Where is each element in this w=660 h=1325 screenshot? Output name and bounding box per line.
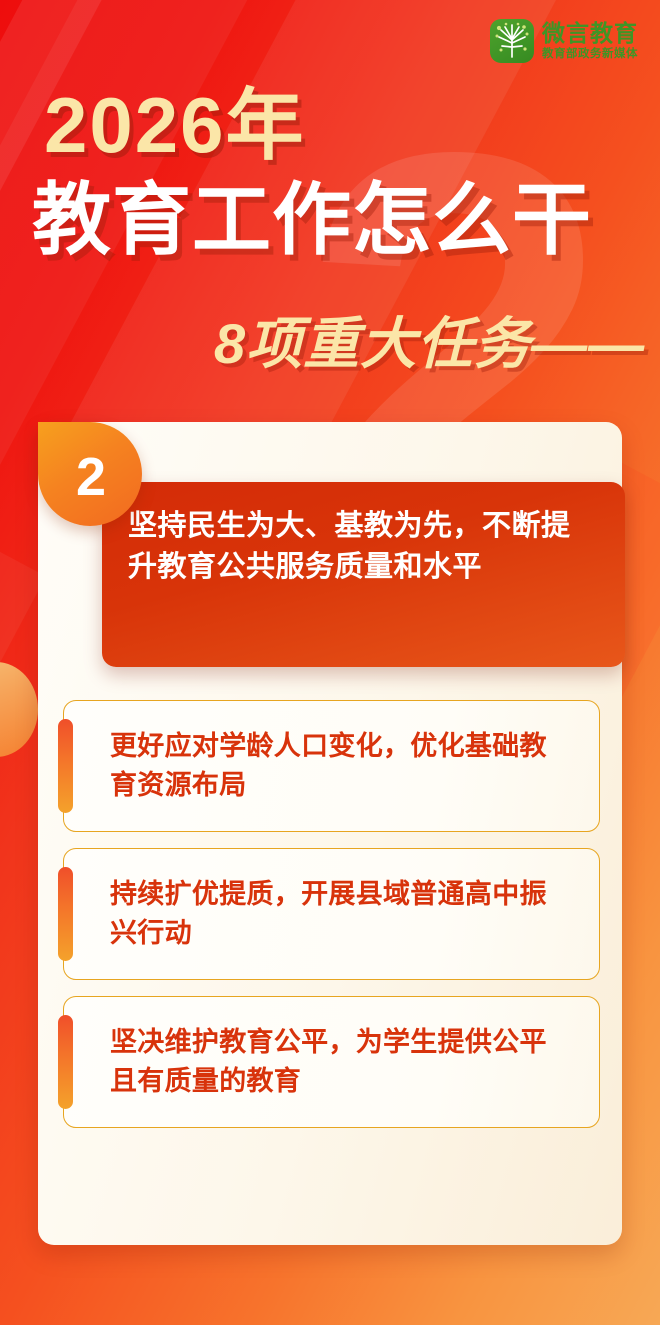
section-number-badge: 2 bbox=[38, 422, 142, 526]
decorative-circle bbox=[0, 662, 38, 757]
list-item[interactable]: 坚决维护教育公平，为学生提供公平且有质量的教育 bbox=[63, 996, 600, 1128]
list-item[interactable]: 更好应对学龄人口变化，优化基础教育资源布局 bbox=[63, 700, 600, 832]
brand-logo: 微言教育 教育部政务新媒体 bbox=[490, 19, 638, 63]
list-item-text: 持续扩优提质，开展县域普通高中振兴行动 bbox=[110, 875, 573, 953]
headline-year: 2026年 bbox=[44, 86, 306, 164]
poster-root: 2 bbox=[0, 0, 660, 1325]
list-item-text: 坚决维护教育公平，为学生提供公平且有质量的教育 bbox=[110, 1023, 573, 1101]
headline-subtitle: 8项重大任务—— bbox=[214, 316, 645, 372]
dandelion-icon bbox=[490, 19, 534, 63]
task-list: 更好应对学龄人口变化，优化基础教育资源布局 持续扩优提质，开展县域普通高中振兴行… bbox=[63, 700, 600, 1144]
accent-bar bbox=[58, 1015, 73, 1109]
accent-bar bbox=[58, 867, 73, 961]
list-item[interactable]: 持续扩优提质，开展县域普通高中振兴行动 bbox=[63, 848, 600, 980]
list-item-text: 更好应对学龄人口变化，优化基础教育资源布局 bbox=[110, 727, 573, 805]
section-title: 坚持民生为大、基教为先，不断提升教育公共服务质量和水平 bbox=[128, 506, 599, 588]
logo-title: 微言教育 bbox=[542, 22, 638, 45]
section-number: 2 bbox=[76, 450, 106, 504]
logo-text: 微言教育 教育部政务新媒体 bbox=[542, 22, 638, 61]
headline-main: 教育工作怎么干 bbox=[32, 180, 592, 259]
logo-subtitle: 教育部政务新媒体 bbox=[542, 49, 638, 61]
section-title-block: 坚持民生为大、基教为先，不断提升教育公共服务质量和水平 bbox=[102, 482, 625, 667]
accent-bar bbox=[58, 719, 73, 813]
